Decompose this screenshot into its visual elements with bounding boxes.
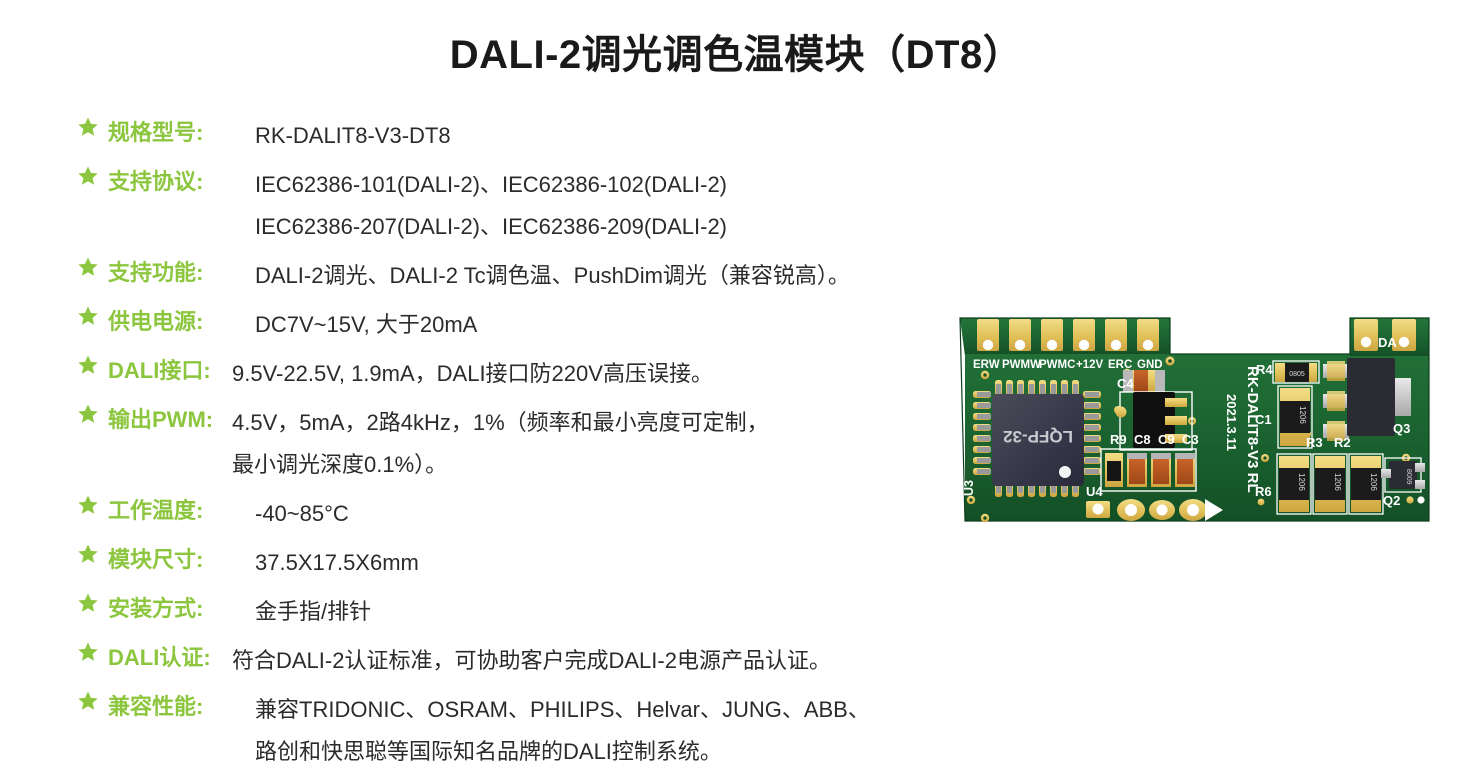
star-icon [68, 252, 108, 278]
svg-text:C9: C9 [1158, 432, 1175, 447]
svg-text:R9: R9 [1110, 432, 1127, 447]
silkscreen-board-date: 2021.3.11 [1224, 394, 1239, 451]
spec-value-line: 兼容TRIDONIC、OSRAM、PHILIPS、Helvar、JUNG、ABB… [255, 689, 1473, 731]
spec-value: DALI-2调光、DALI-2 Tc调色温、PushDim调光（兼容锐高）。 [255, 252, 1473, 297]
svg-text:GND: GND [1137, 359, 1163, 371]
star-icon [68, 301, 108, 327]
svg-text:R4: R4 [1256, 362, 1273, 377]
pcb-board-image: DA ERW PWMW PWMC +12V ERC GND [955, 306, 1435, 534]
star-icon [68, 539, 108, 565]
svg-text:0805: 0805 [1289, 371, 1305, 378]
svg-text:PWMC: PWMC [1039, 359, 1075, 371]
svg-text:C8: C8 [1134, 432, 1151, 447]
silkscreen-lqfp32: LQFP-32 [1003, 427, 1073, 446]
svg-text:8009: 8009 [1405, 469, 1412, 485]
spec-label: DALI认证: [108, 637, 232, 672]
svg-text:PWMW: PWMW [1002, 359, 1041, 371]
spec-row: 安装方式:金手指/排针 [0, 588, 1473, 633]
spec-value: 符合DALI-2认证标准，可协助客户完成DALI-2电源产品认证。 [232, 637, 1473, 682]
spec-label: 支持协议: [108, 161, 232, 196]
spec-row: 兼容性能:兼容TRIDONIC、OSRAM、PHILIPS、Helvar、JUN… [0, 686, 1473, 773]
spec-value: 兼容TRIDONIC、OSRAM、PHILIPS、Helvar、JUNG、ABB… [255, 686, 1473, 773]
svg-text:C1: C1 [1255, 412, 1272, 427]
svg-text:1206: 1206 [1333, 473, 1342, 491]
bottom-test-pads [1086, 499, 1223, 521]
spec-label: DALI接口: [108, 350, 232, 385]
svg-text:+12V: +12V [1076, 359, 1104, 371]
spec-value: 37.5X17.5X6mm [255, 539, 1473, 584]
silkscreen-u3: U3 [962, 480, 976, 496]
spec-value: RK-DALIT8-V3-DT8 [255, 112, 1473, 157]
spec-value-line: IEC62386-207(DALI-2)、IEC62386-209(DALI-2… [255, 206, 1473, 248]
silkscreen-da: DA [1378, 335, 1397, 350]
spec-row: 模块尺寸:37.5X17.5X6mm [0, 539, 1473, 584]
star-icon [68, 490, 108, 516]
page-title: DALI-2调光调色温模块（DT8） [0, 22, 1473, 80]
spec-label: 供电电源: [108, 301, 232, 336]
spec-label: 规格型号: [108, 112, 232, 147]
spec-value-line: IEC62386-101(DALI-2)、IEC62386-102(DALI-2… [255, 164, 1473, 206]
spec-value-line: DALI-2调光、DALI-2 Tc调色温、PushDim调光（兼容锐高）。 [255, 255, 1473, 297]
spec-row: 支持协议:IEC62386-101(DALI-2)、IEC62386-102(D… [0, 161, 1473, 248]
svg-text:Q2: Q2 [1383, 493, 1400, 508]
svg-text:1206: 1206 [1297, 473, 1306, 491]
star-icon [68, 637, 108, 663]
spec-label: 输出PWM: [108, 399, 232, 434]
spec-label: 安装方式: [108, 588, 232, 623]
silkscreen-board-name: RK-DALIT8-V3 RL [1244, 366, 1261, 493]
spec-row: 支持功能:DALI-2调光、DALI-2 Tc调色温、PushDim调光（兼容锐… [0, 252, 1473, 297]
star-icon [68, 161, 108, 187]
spec-label: 模块尺寸: [108, 539, 232, 574]
svg-text:ERW: ERW [973, 359, 1000, 371]
spec-value-line: 符合DALI-2认证标准，可协助客户完成DALI-2电源产品认证。 [232, 640, 1473, 682]
star-icon [68, 588, 108, 614]
silkscreen-r3: R3 [1306, 435, 1323, 450]
spec-value: IEC62386-101(DALI-2)、IEC62386-102(DALI-2… [255, 161, 1473, 248]
smd-1206-array: 1206 1206 1206 [1277, 454, 1383, 514]
spec-label: 支持功能: [108, 252, 232, 287]
star-icon [68, 686, 108, 712]
silkscreen-r2: R2 [1334, 435, 1351, 450]
q3-pads [1323, 361, 1349, 441]
spec-value: 金手指/排针 [255, 588, 1473, 633]
svg-text:1206: 1206 [1369, 473, 1378, 491]
star-icon [68, 350, 108, 376]
spec-row: 规格型号:RK-DALIT8-V3-DT8 [0, 112, 1473, 157]
svg-text:Q3: Q3 [1393, 421, 1410, 436]
spec-value-line: 路创和快思聪等国际知名品牌的DALI控制系统。 [255, 731, 1473, 773]
spec-label: 兼容性能: [108, 686, 232, 721]
spec-value-line: 37.5X17.5X6mm [255, 542, 1473, 584]
spec-label: 工作温度: [108, 490, 232, 525]
star-icon [68, 399, 108, 425]
silkscreen-c4: C4 [1117, 376, 1134, 391]
spec-value-line: RK-DALIT8-V3-DT8 [255, 115, 1473, 157]
silkscreen-r6: R6 [1255, 484, 1272, 499]
lqfp32-ic: LQFP-32 [973, 380, 1101, 497]
svg-text:C3: C3 [1182, 432, 1199, 447]
spec-row: DALI认证:符合DALI-2认证标准，可协助客户完成DALI-2电源产品认证。 [0, 637, 1473, 682]
svg-text:1206: 1206 [1298, 406, 1307, 424]
spec-value-line: 金手指/排针 [255, 591, 1473, 633]
star-icon [68, 112, 108, 138]
